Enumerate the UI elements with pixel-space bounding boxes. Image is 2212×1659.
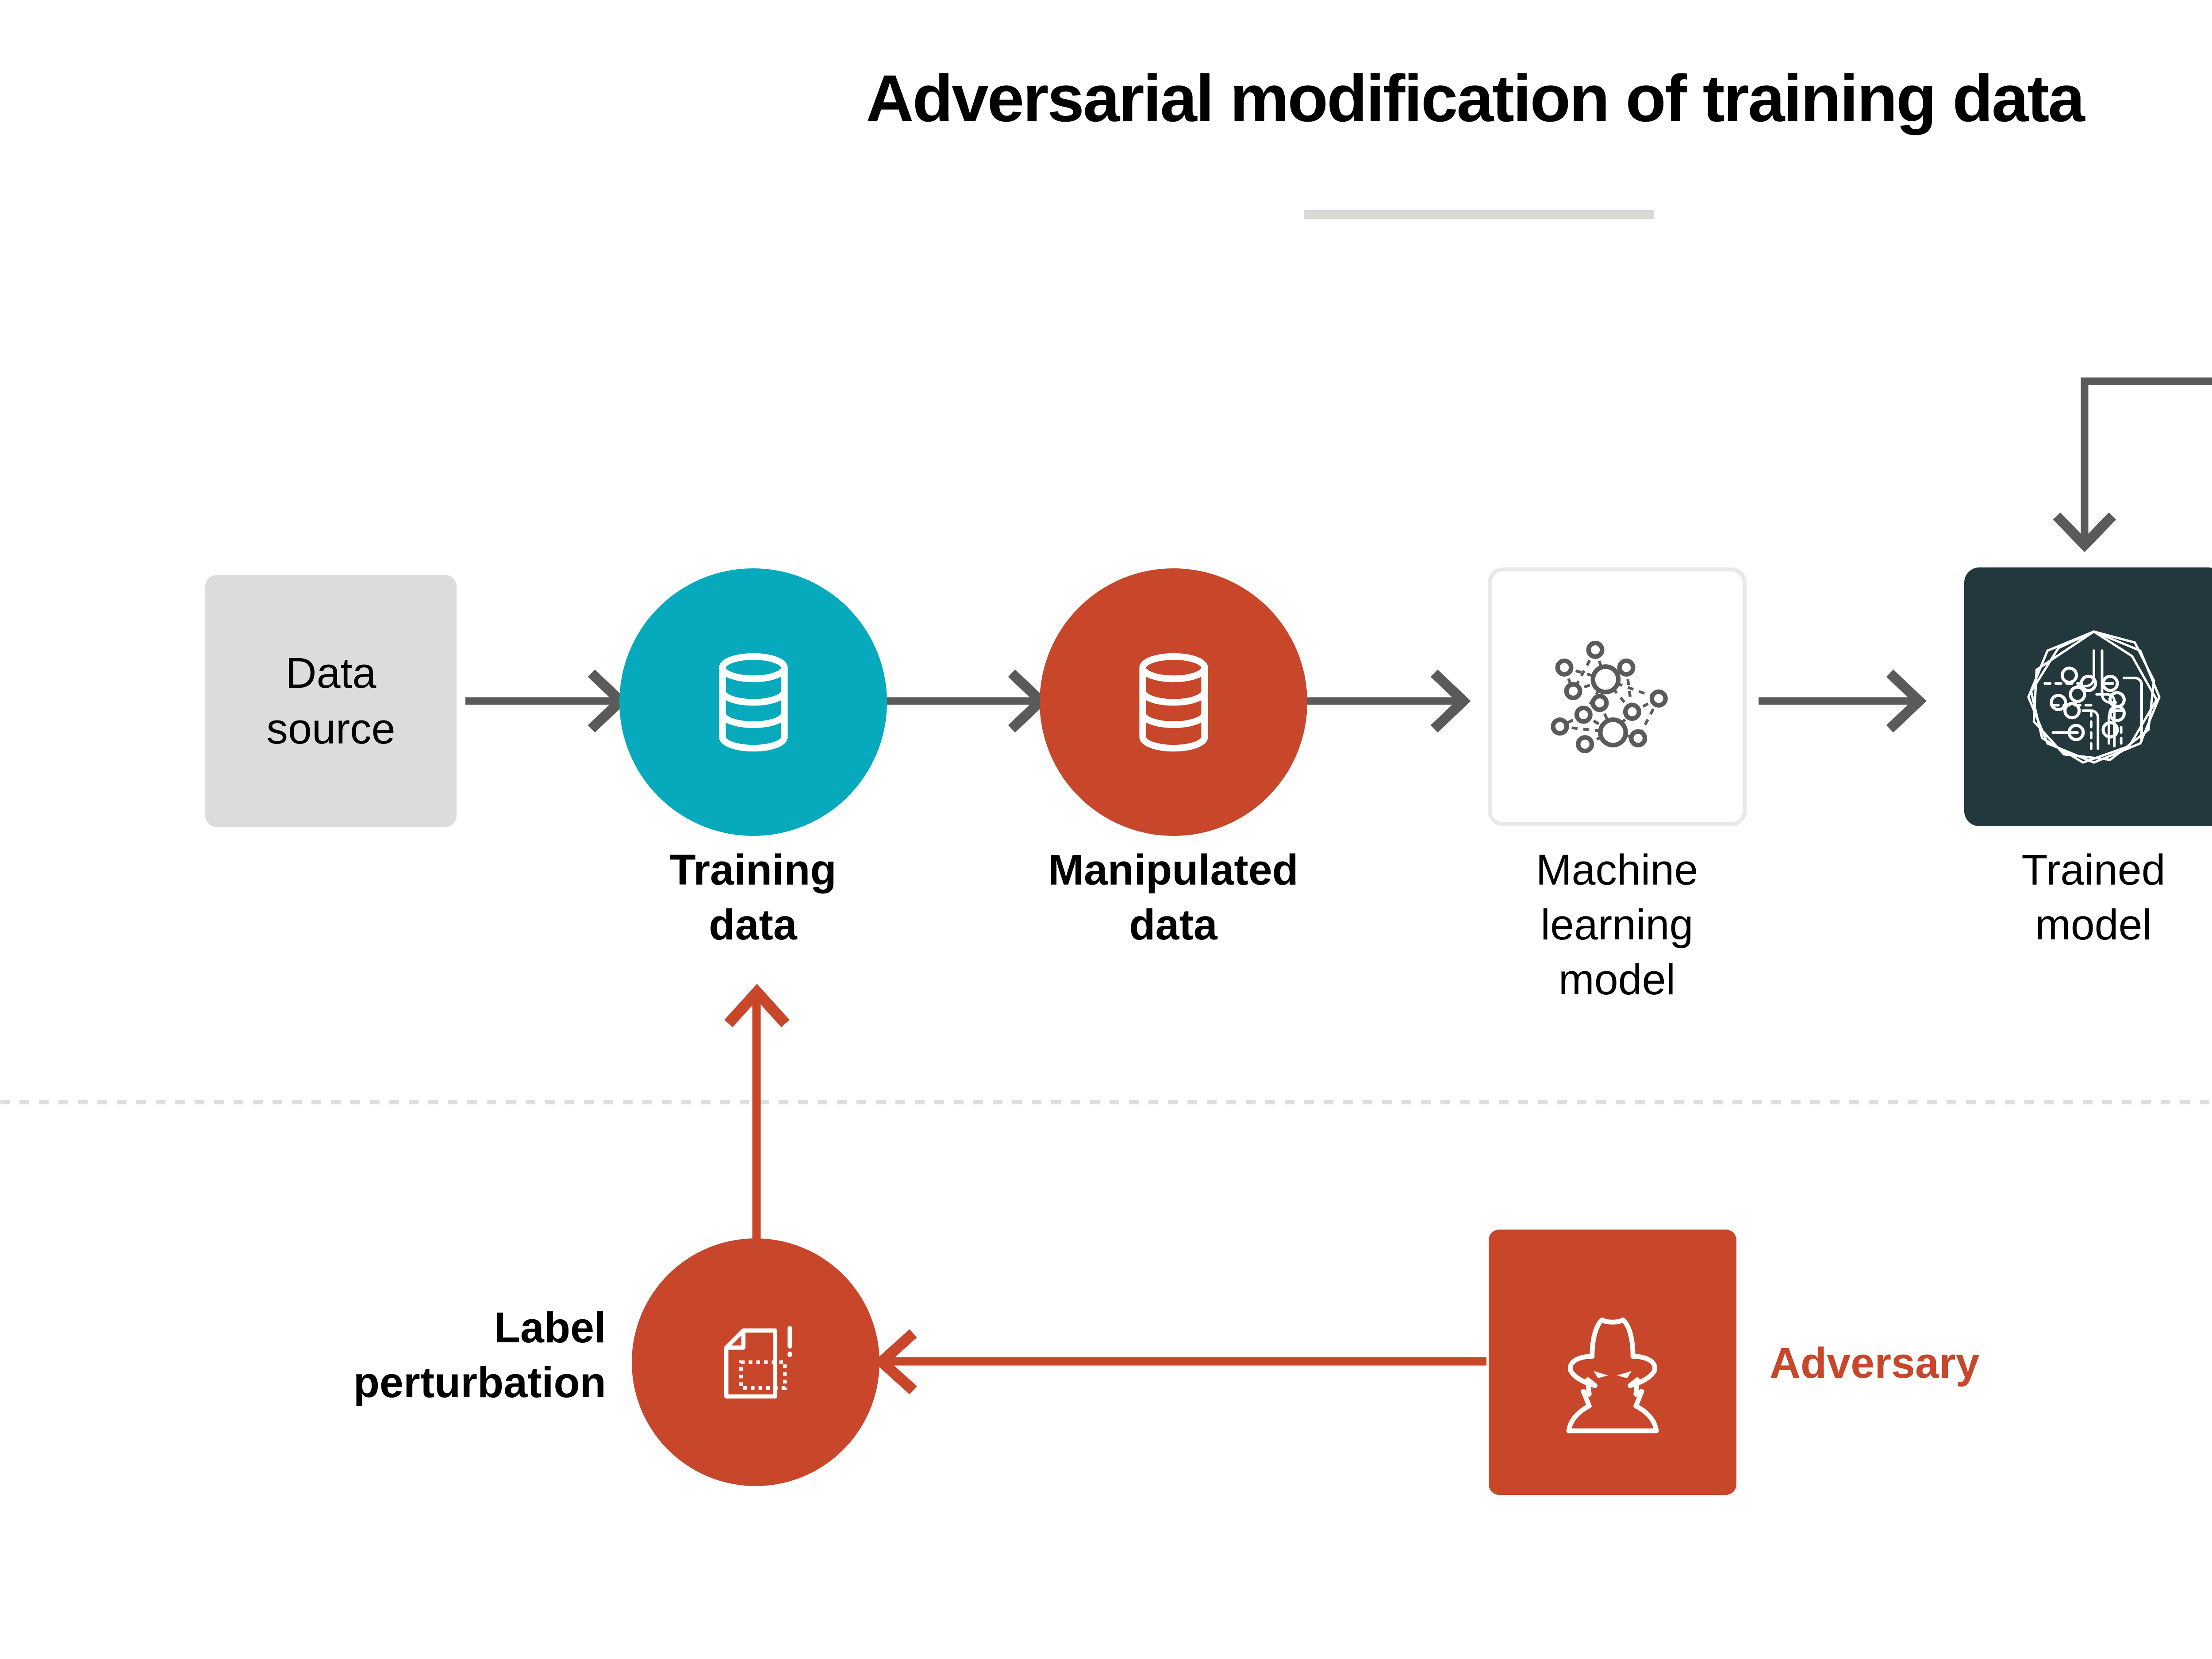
arrow-adversary-to-label-perturbation — [882, 1337, 1486, 1387]
network-graph-icon — [1529, 609, 1706, 785]
node-label-perturbation[interactable] — [632, 1238, 879, 1486]
arrow-ml-model-to-trained-model — [1759, 677, 1919, 725]
node-training-data[interactable] — [619, 568, 887, 836]
hacker-spy-icon — [1540, 1289, 1686, 1435]
connector-layer — [0, 0, 2212, 1659]
diagram-canvas: Adversarial modification of training dat… — [0, 0, 2212, 1659]
database-cylinder-icon — [691, 640, 815, 764]
document-alert-icon — [695, 1301, 817, 1423]
title-underline-rule — [1304, 210, 1654, 219]
arrow-manipulated-data-to-ml-model — [1307, 677, 1463, 725]
arrow-training-data-to-manipulated-data — [887, 677, 1041, 725]
ai-circuit-brain-icon — [2012, 615, 2176, 779]
trained-model-label: Trained model — [1939, 843, 2212, 952]
manipulated-data-label: Manipulated data — [996, 843, 1350, 952]
data-source-label: Data source — [266, 645, 395, 757]
node-data-source[interactable]: Data source — [205, 575, 457, 827]
node-manipulated-data[interactable] — [1040, 568, 1307, 836]
node-adversary[interactable] — [1489, 1230, 1736, 1495]
database-cylinder-icon — [1112, 640, 1236, 764]
arrow-testing-data-to-trained-model — [2060, 381, 2212, 545]
label-perturbation-label: Label perturbation — [204, 1300, 606, 1410]
section-divider — [0, 1100, 2212, 1104]
arrow-data-source-to-training-data — [465, 677, 621, 725]
adversary-label: Adversary — [1770, 1336, 2168, 1391]
training-data-label: Training data — [598, 843, 908, 952]
node-machine-learning-model[interactable] — [1488, 567, 1747, 826]
node-trained-model[interactable] — [1964, 567, 2212, 826]
page-title: Adversarial modification of training dat… — [0, 62, 2212, 135]
machine-learning-model-label: Machine learning model — [1462, 843, 1772, 1007]
